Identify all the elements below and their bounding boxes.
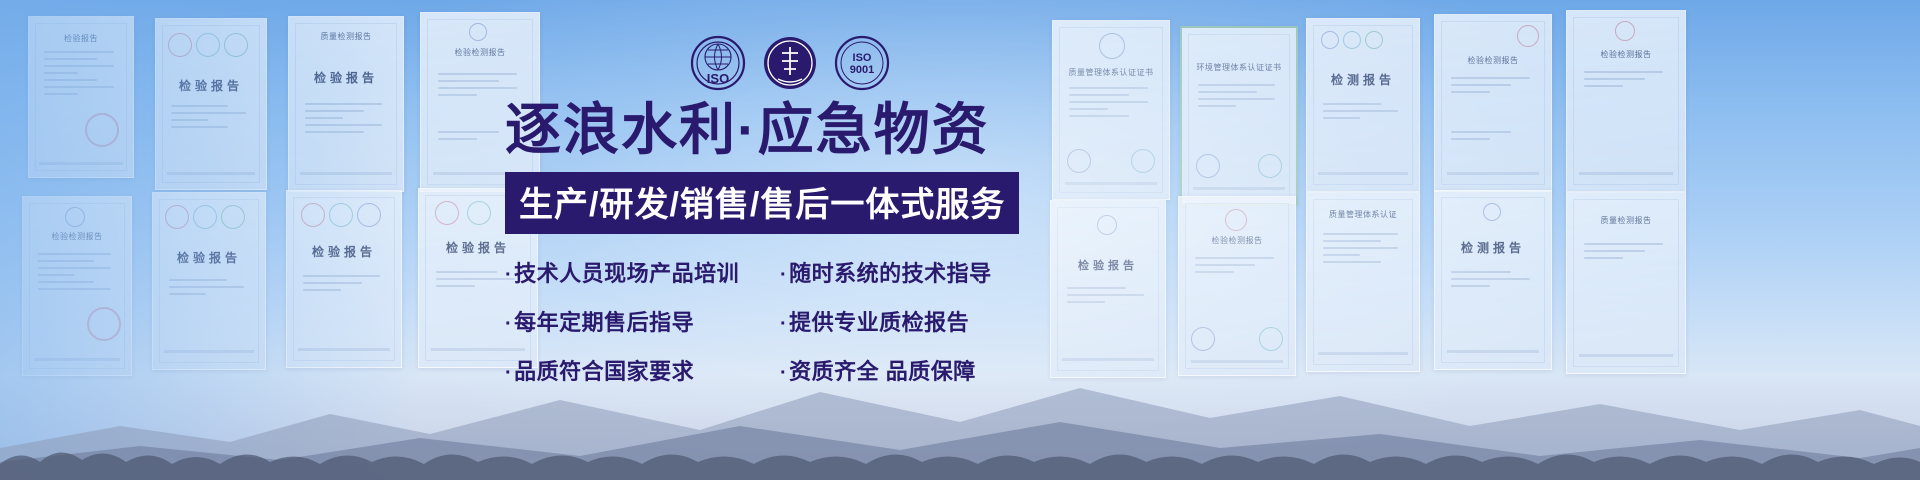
- certificate-thumb: 检验检测报告: [1566, 10, 1686, 192]
- certificate-thumb: 检验报告: [28, 16, 134, 178]
- svg-text:ISO: ISO: [853, 52, 872, 64]
- quality-seal-badge-icon: [762, 35, 818, 91]
- bullet-dot: ·: [780, 362, 787, 384]
- feature-text: 资质齐全 品质保障: [789, 359, 976, 384]
- feature-text: 随时系统的技术指导: [789, 261, 992, 286]
- bullet-dot: ·: [780, 313, 787, 335]
- feature-text: 每年定期售后指导: [514, 310, 694, 335]
- certificate-thumb: 检验报告: [155, 18, 267, 190]
- svg-text:9001: 9001: [850, 64, 874, 76]
- banner-content: 逐浪水利·应急物资 生产/研发/销售/售后一体式服务 ·技术人员现场产品培训 ·…: [505, 100, 1075, 386]
- feature-list: ·技术人员现场产品培训 ·随时系统的技术指导 ·每年定期售后指导 ·提供专业质检…: [505, 256, 1075, 386]
- certificate-thumb: 检测报告: [1306, 18, 1420, 192]
- certification-badges: ISO ISO 9001: [690, 33, 890, 93]
- bullet-dot: ·: [505, 362, 512, 384]
- list-item: ·随时系统的技术指导: [780, 256, 1055, 288]
- list-item: ·技术人员现场产品培训: [505, 256, 780, 288]
- iso-9001-badge-icon: ISO 9001: [834, 35, 890, 91]
- bullet-dot: ·: [780, 264, 787, 286]
- service-band: 生产/研发/销售/售后一体式服务: [505, 172, 1019, 234]
- certificate-thumb: 质量检测报告 检验报告: [288, 16, 404, 192]
- list-item: ·资质齐全 品质保障: [780, 354, 1055, 386]
- list-item: ·品质符合国家要求: [505, 354, 780, 386]
- list-item: ·每年定期售后指导: [505, 305, 780, 337]
- promo-banner: 检验报告 检验报告 质量检测报告 检验报告 检验检测报告: [0, 0, 1920, 480]
- svg-text:ISO: ISO: [707, 71, 729, 86]
- feature-text: 品质符合国家要求: [514, 359, 694, 384]
- certificate-thumb: 环境管理体系认证证书: [1180, 26, 1298, 206]
- iso-badge-icon: ISO: [690, 35, 746, 91]
- list-item: ·提供专业质检报告: [780, 305, 1055, 337]
- feature-text: 技术人员现场产品培训: [514, 261, 739, 286]
- certificate-thumb: 检验检测报告: [1434, 14, 1552, 192]
- page-title: 逐浪水利·应急物资: [505, 100, 1075, 160]
- bullet-dot: ·: [505, 264, 512, 286]
- feature-text: 提供专业质检报告: [789, 310, 969, 335]
- bullet-dot: ·: [505, 313, 512, 335]
- treeline-silhouette: [0, 434, 1920, 480]
